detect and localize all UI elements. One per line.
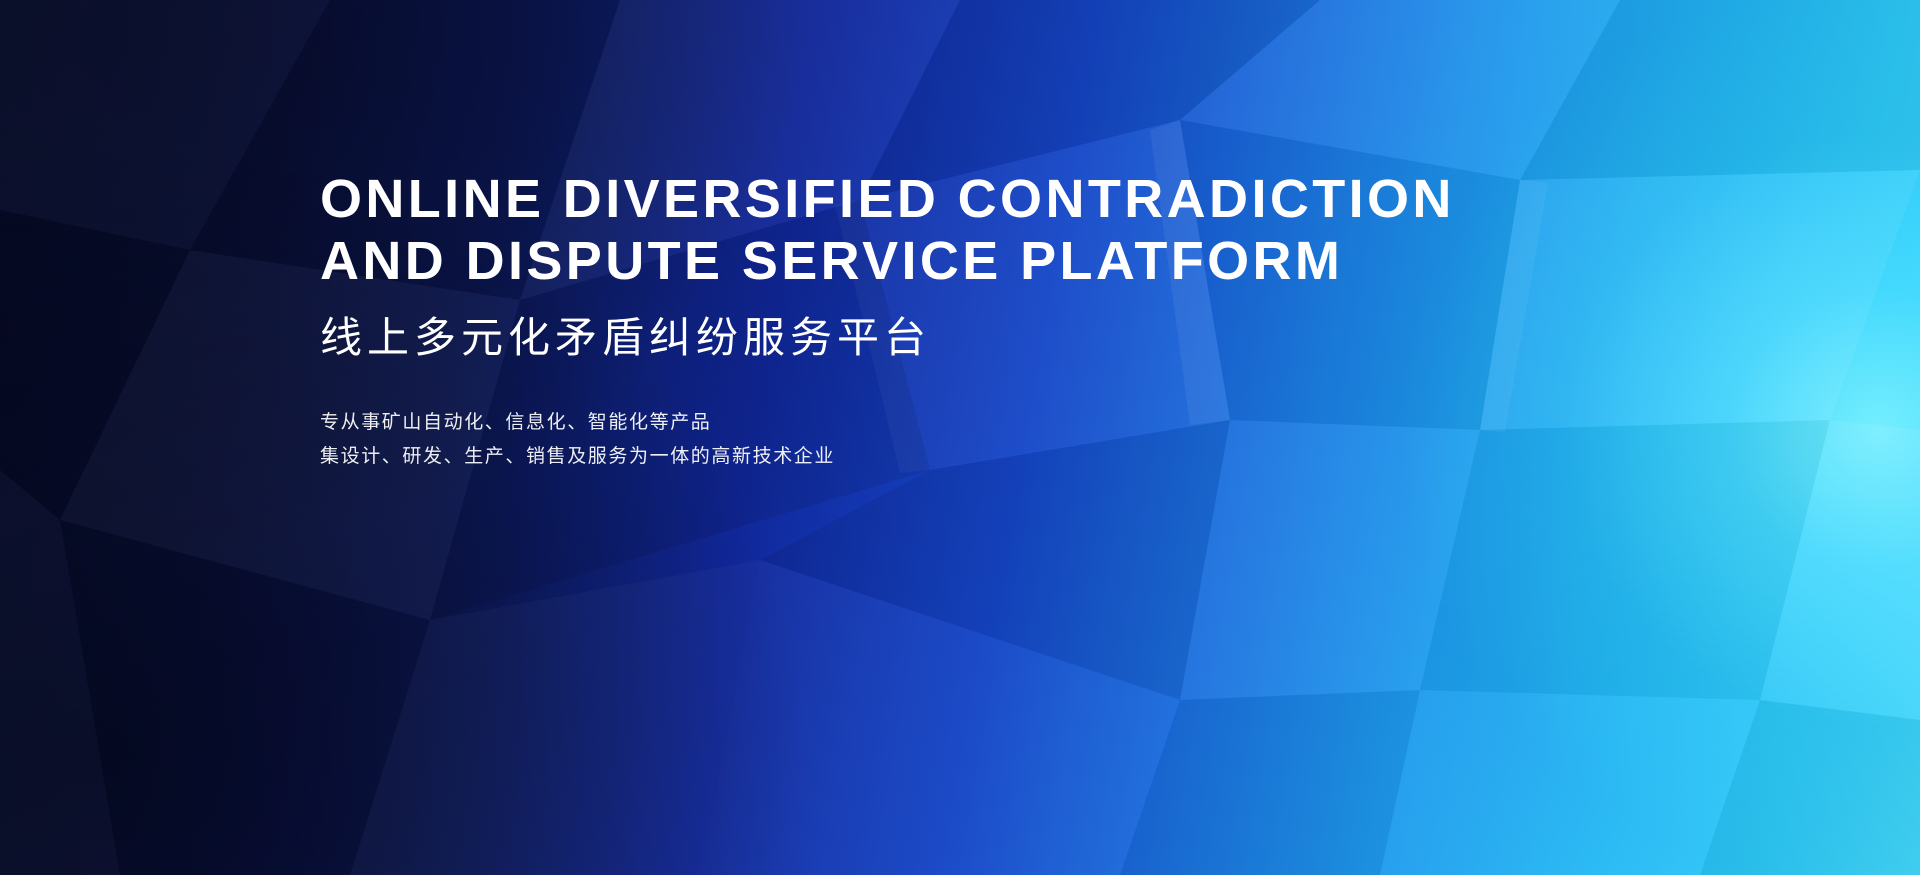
hero-banner: ONLINE DIVERSIFIED CONTRADICTION AND DIS… xyxy=(0,0,1920,875)
hero-content: ONLINE DIVERSIFIED CONTRADICTION AND DIS… xyxy=(320,168,1680,474)
description-line-1: 专从事矿山自动化、信息化、智能化等产品 xyxy=(320,406,1680,440)
headline-line-1: ONLINE DIVERSIFIED CONTRADICTION xyxy=(320,168,1680,230)
page-title: ONLINE DIVERSIFIED CONTRADICTION AND DIS… xyxy=(320,168,1680,292)
description-line-2: 集设计、研发、生产、销售及服务为一体的高新技术企业 xyxy=(320,440,1680,474)
headline-line-2: AND DISPUTE SERVICE PLATFORM xyxy=(320,230,1680,292)
description-block: 专从事矿山自动化、信息化、智能化等产品 集设计、研发、生产、销售及服务为一体的高… xyxy=(320,406,1680,474)
subtitle-chinese: 线上多元化矛盾纠纷服务平台 xyxy=(320,312,1680,364)
